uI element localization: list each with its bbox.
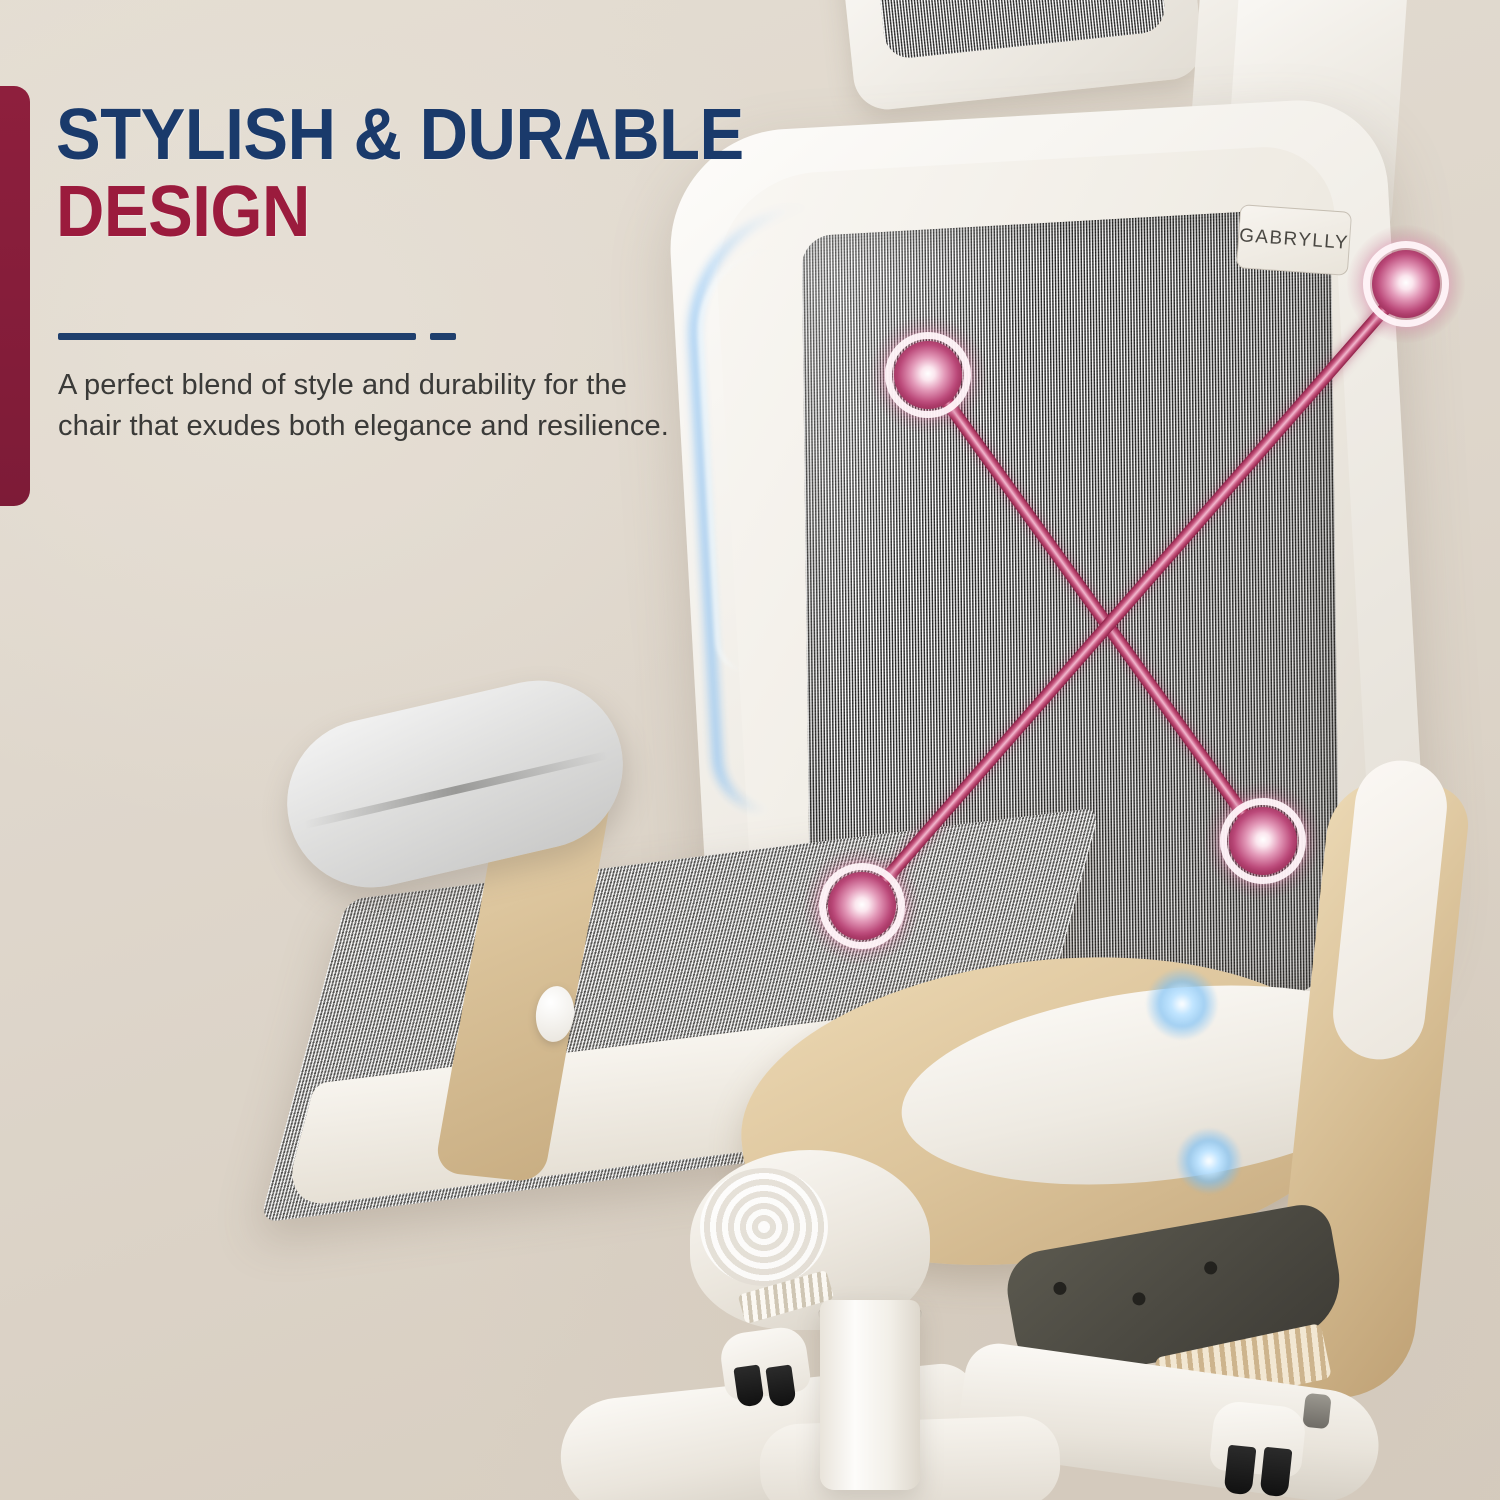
blue-glint-upper (1146, 968, 1218, 1040)
marketing-banner: GABRYLLY (0, 0, 1500, 1500)
brand-badge-label: GABRYLLY (1238, 225, 1349, 255)
headline-line-2: DESIGN (56, 181, 893, 244)
caster-housing-left (718, 1324, 812, 1401)
title-divider-long (58, 333, 416, 340)
chair-tilt-knob (700, 1168, 828, 1286)
left-accent-bar (0, 86, 30, 506)
caster-stem-right (1302, 1393, 1331, 1430)
subtitle-paragraph: A perfect blend of style and durability … (58, 365, 698, 447)
title-divider-dash (430, 333, 456, 340)
brand-badge: GABRYLLY (1236, 204, 1352, 276)
caster-housing-right (1209, 1399, 1308, 1478)
blue-glint-lower (1176, 1128, 1242, 1194)
chair-gas-cylinder (820, 1300, 920, 1490)
page-title: STYLISH & DURABLE DESIGN (56, 104, 956, 245)
subtitle-text: A perfect blend of style and durability … (58, 365, 698, 447)
headline-line-1: STYLISH & DURABLE (56, 104, 893, 167)
